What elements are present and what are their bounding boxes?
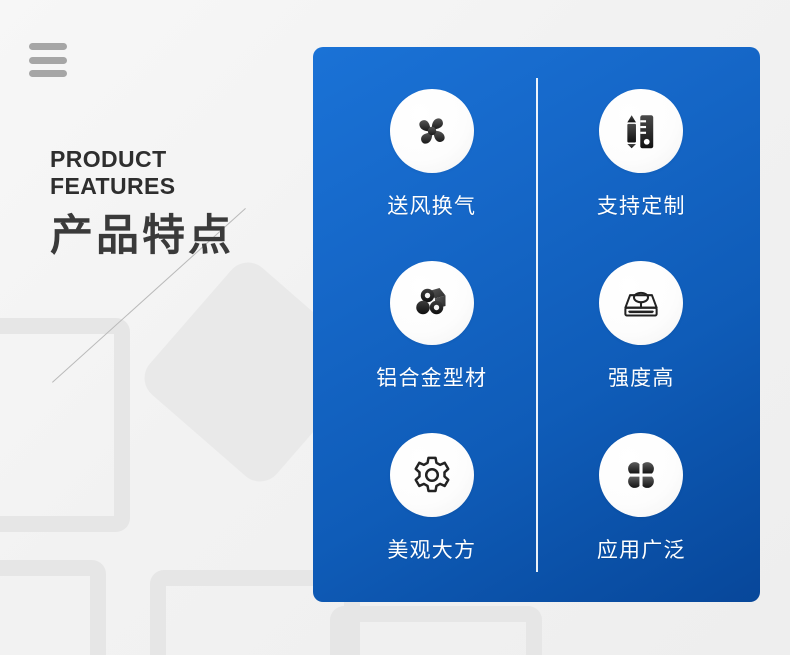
- gear-icon: [407, 450, 457, 500]
- feature-icon-badge: [599, 89, 683, 173]
- page-title-english: PRODUCT FEATURES: [50, 146, 300, 200]
- feature-item-aluminum[interactable]: 铝合金型材: [327, 241, 537, 413]
- page-title-chinese: 产品特点: [50, 214, 300, 259]
- feature-item-appearance[interactable]: 美观大方: [327, 412, 537, 584]
- hamburger-bar: [29, 57, 67, 64]
- feature-label: 送风换气: [387, 190, 476, 220]
- feature-icon-badge: [390, 261, 474, 345]
- feature-panel: 送风换气: [313, 47, 760, 602]
- feature-item-ventilation[interactable]: 送风换气: [327, 69, 537, 241]
- feature-icon-badge: [390, 433, 474, 517]
- four-petals-icon: [616, 450, 666, 500]
- hamburger-bar: [29, 70, 67, 77]
- pencil-ruler-icon: [618, 108, 664, 154]
- feature-item-customization[interactable]: 支持定制: [537, 69, 747, 241]
- feature-label: 铝合金型材: [376, 362, 487, 392]
- feature-icon-badge: [599, 261, 683, 345]
- feature-label: 应用广泛: [597, 534, 686, 564]
- fan-icon: [407, 106, 457, 156]
- decor-square-outline: [0, 560, 106, 655]
- feature-label: 美观大方: [387, 534, 476, 564]
- hamburger-bar: [29, 43, 67, 50]
- feature-label: 支持定制: [597, 190, 686, 220]
- feature-item-strength[interactable]: 强度高: [537, 241, 747, 413]
- product-features-page: PRODUCT FEATURES 产品特点: [0, 0, 790, 655]
- load-box-icon: [616, 278, 666, 328]
- feature-icon-badge: [390, 89, 474, 173]
- feature-label: 强度高: [608, 362, 675, 392]
- pipes-icon: [408, 279, 456, 327]
- decor-square-outline: [0, 318, 130, 532]
- feature-item-application[interactable]: 应用广泛: [537, 412, 747, 584]
- decor-square-outline: [330, 606, 542, 655]
- page-title: PRODUCT FEATURES 产品特点: [50, 146, 300, 259]
- hamburger-menu-icon[interactable]: [29, 43, 67, 77]
- feature-icon-badge: [599, 433, 683, 517]
